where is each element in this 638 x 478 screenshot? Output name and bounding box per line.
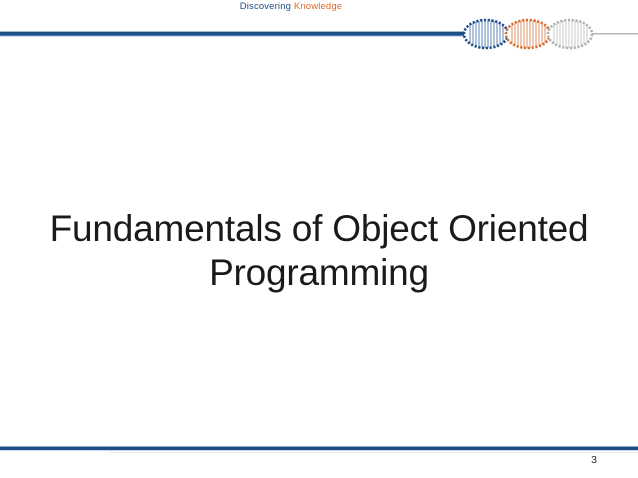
- brand-tagline: Discovering Knowledge: [0, 1, 638, 12]
- brand-word-accent: Knowledge: [294, 1, 342, 12]
- slide-body: Fundamentals of Object Oriented Programm…: [0, 52, 638, 440]
- dna-helix-logo: [462, 18, 638, 50]
- page-title: Fundamentals of Object Oriented Programm…: [28, 207, 610, 295]
- footer-rule-soft: [110, 452, 638, 453]
- header-rule: [0, 31, 470, 37]
- page-number: 3: [560, 454, 628, 466]
- page-title-line-1: Fundamentals of Object Oriented: [28, 207, 610, 251]
- footer-rule: [0, 446, 638, 451]
- page-title-line-2: Programming: [28, 251, 610, 295]
- slide: Discovering Knowledge: [0, 0, 638, 478]
- slide-header: Discovering Knowledge: [0, 0, 638, 52]
- dna-helix-icon: [462, 18, 638, 50]
- brand-word-primary: Discovering: [240, 1, 291, 12]
